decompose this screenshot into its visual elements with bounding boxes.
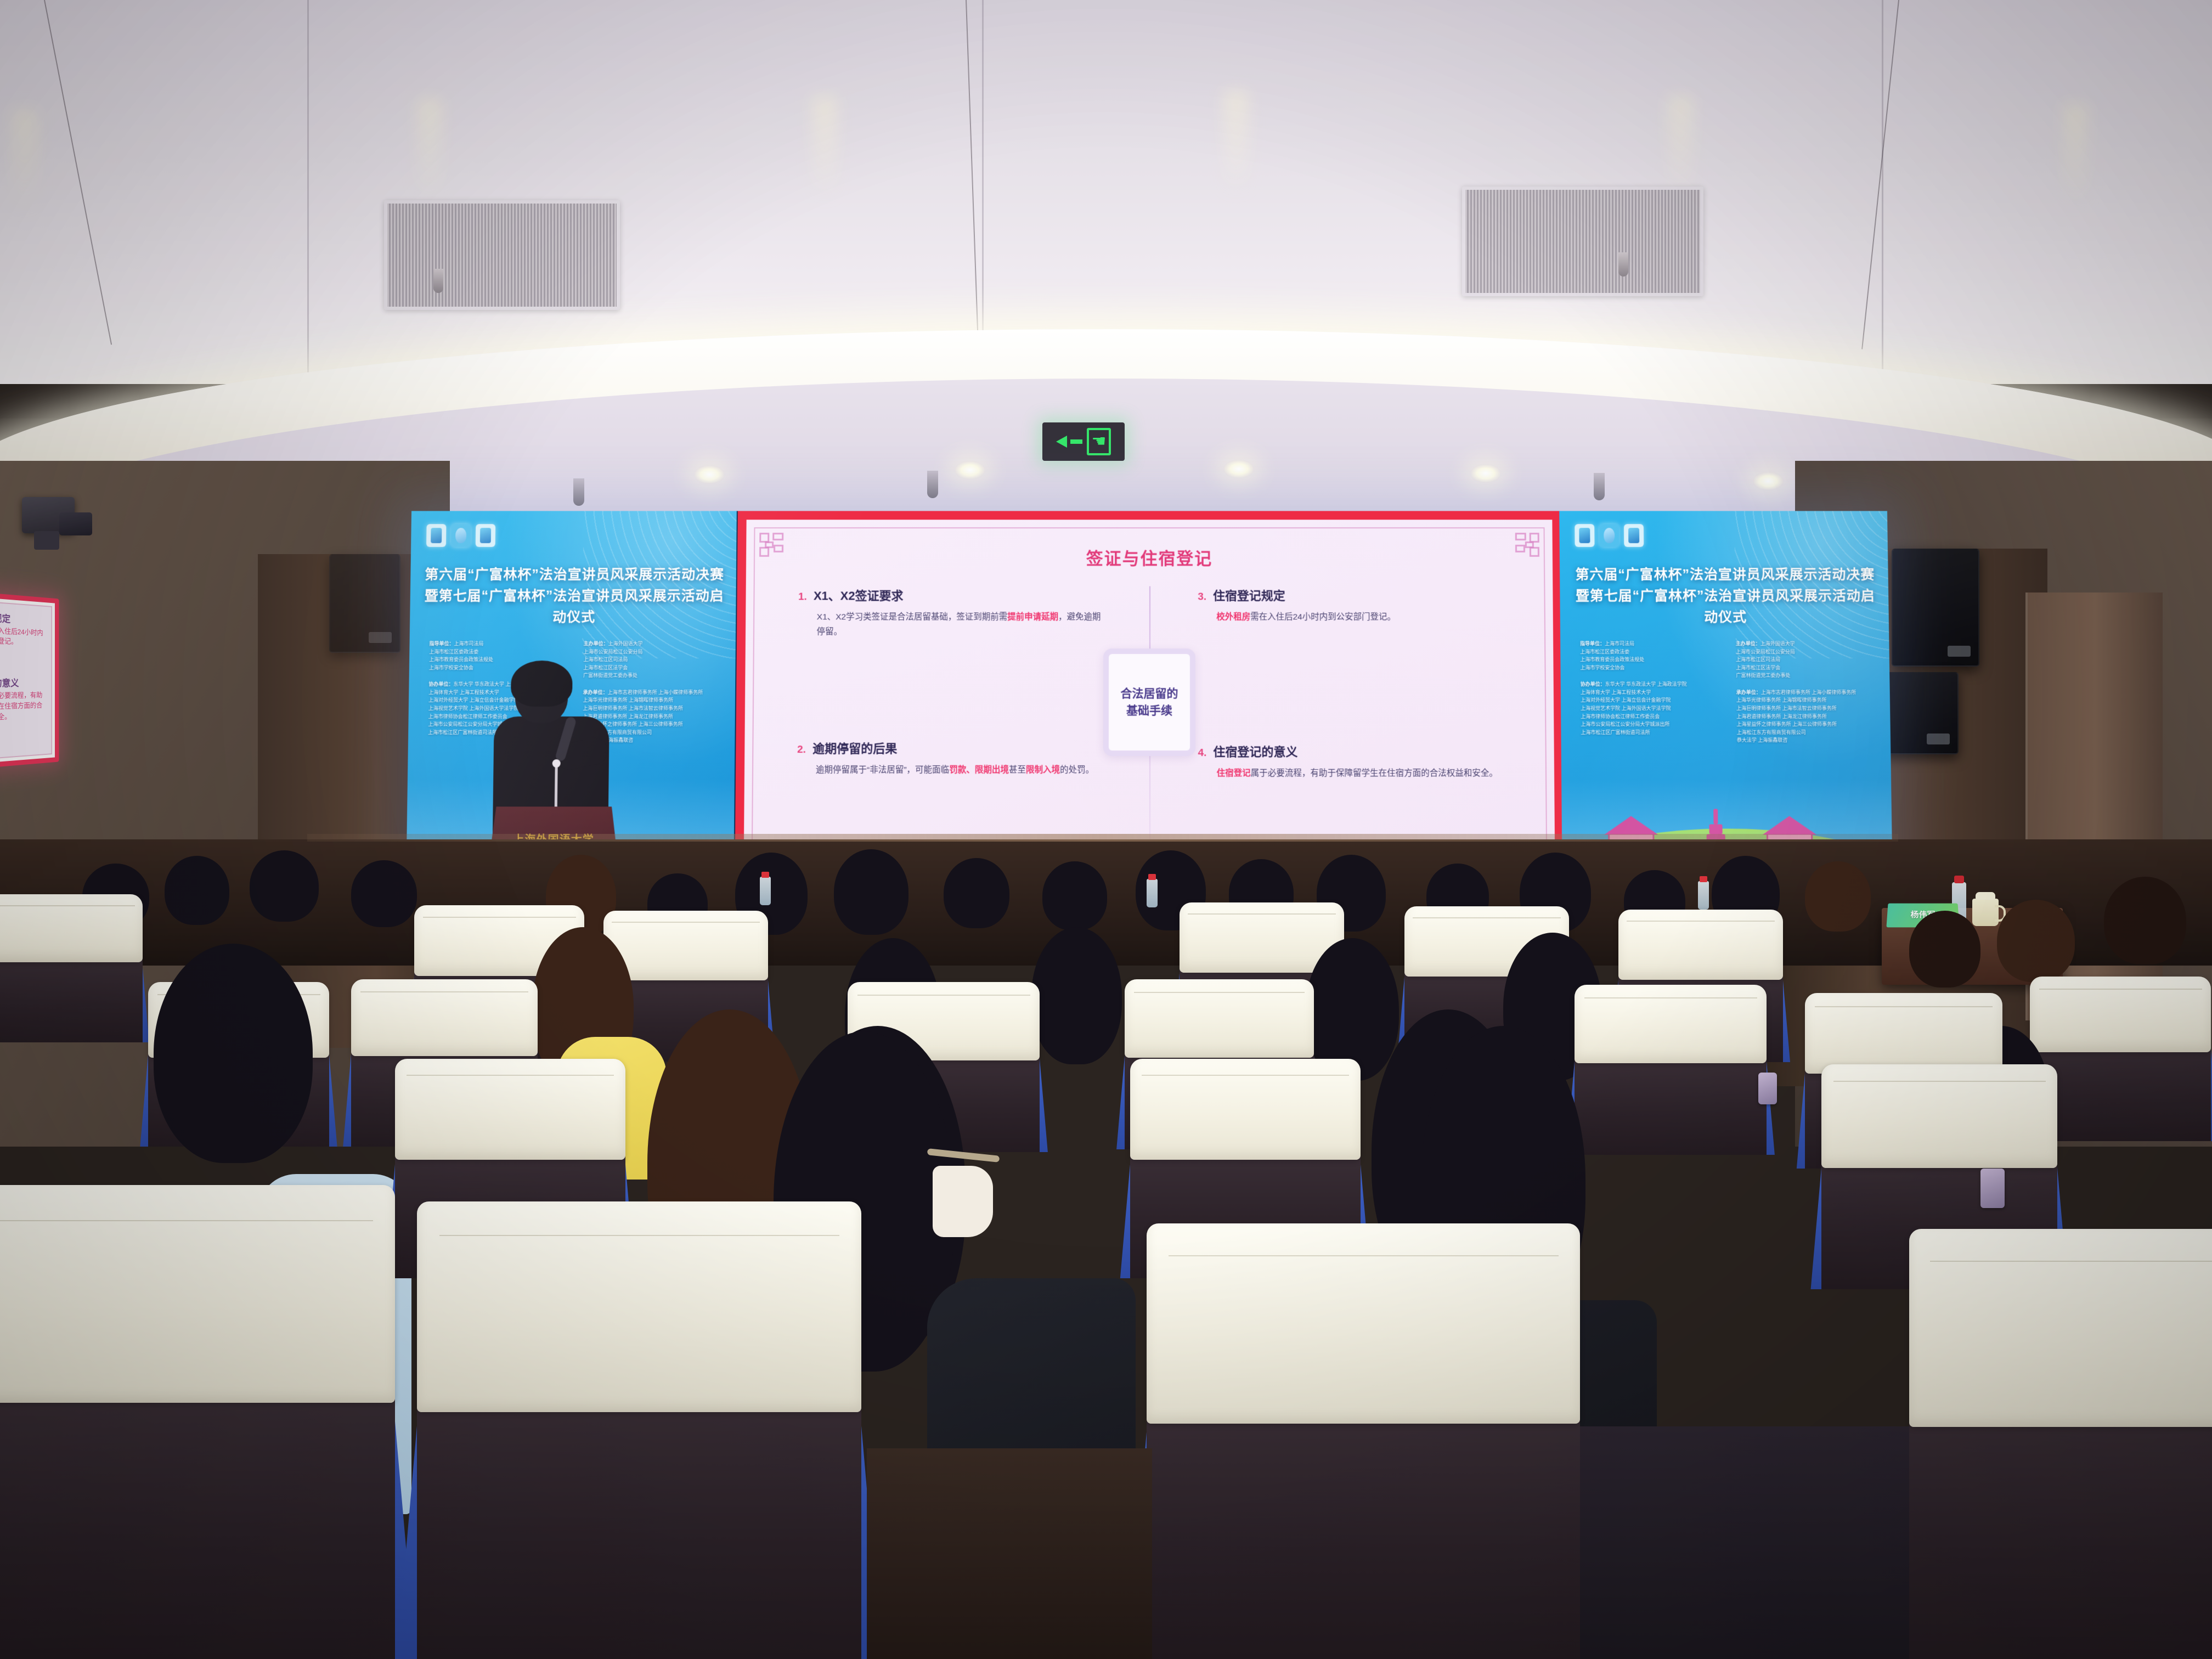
org-label: 指导单位： (429, 641, 454, 646)
audience-head (1997, 900, 2075, 982)
body-part-highlight: 限制入境 (1026, 765, 1060, 775)
org-item: 上海市司法局 (454, 641, 483, 646)
slide-item-heading: 逾期停留的后果 (812, 739, 897, 757)
org-item: 上海松江东方有限商贸有限公司 (1737, 729, 1877, 737)
banner-logo-group (426, 524, 495, 547)
seat-headrest-cover (395, 1059, 625, 1160)
emergency-exit-sign: ☚ (1042, 422, 1125, 461)
body-part-highlight: 提前申请延期 (1007, 612, 1058, 622)
slide-item-heading: X1、X2签证要求 (814, 586, 904, 604)
audience-head (1909, 911, 1980, 988)
slide-item-number: 4. (1198, 747, 1207, 759)
slide-item-body: X1、X2学习类签证是合法居留基础，签证到期前需提前申请延期，避免逾期停留。 (798, 610, 1105, 639)
org-item: 上海巨明律师事务所 上海市法智云律师事务所 (1736, 704, 1877, 713)
org-item: 东华大学 华东政法大学 上海政法学院 (1605, 681, 1687, 687)
org-block: 主办单位：上海外国语大学 上海市公安局松江公安分局 上海市松江区司法局 上海市松… (1736, 640, 1877, 680)
body-part-highlight: 校外租房 (1216, 612, 1250, 622)
org-block: 承办单位：上海市志君律师事务所 上海小蝶律师事务所 上海华光律师事务所 上海锦晖… (1736, 689, 1877, 744)
slide-center-card: 合法居留的 基础手续 (1103, 648, 1195, 756)
aisle-floor (867, 1448, 1152, 1659)
org-label: 指导单位： (1580, 641, 1605, 646)
body-part: 逾期停留属于“非法居留”，可能面临 (816, 765, 949, 775)
audience-head (1031, 927, 1122, 1064)
org-column-1: 指导单位：上海市司法局 上海市松江区委政法委 上海市教育委员会政策法规处 上海市… (1580, 640, 1722, 753)
slide-item-body: 住宿登记属于必要流程，有助于保障留学生在住宿方面的合法权益和安全。 (1198, 766, 1506, 781)
logo-torch-icon (1575, 524, 1594, 547)
banner-orgs-right: 指导单位：上海市司法局 上海市松江区委政法委 上海市教育委员会政策法规处 上海市… (1580, 640, 1877, 753)
ceiling-seam (307, 0, 309, 384)
org-block: 指导单位：上海市司法局 上海市松江区委政法委 上海市教育委员会政策法规处 上海市… (1580, 640, 1720, 672)
body-part: X1、X2学习类签证是合法居留基础，签证到期前需 (817, 612, 1007, 622)
slide-title: 签证与住宿登记 (746, 545, 1553, 569)
slide-item-head: 1. X1、X2签证要求 (798, 586, 1105, 604)
banner-title-line1: 第六届“广富林杯”法治宣讲员风采展示活动决赛 (421, 565, 727, 586)
org-item: 上海市教育委员会政策法规处 (1580, 656, 1720, 664)
light-streak (12, 110, 37, 214)
ceiling-seam (1882, 0, 1883, 384)
slide-item-2: 2. 逾期停留的后果 逾期停留属于“非法居留”，可能面临罚款、限期出境甚至限制入… (797, 739, 1105, 778)
org-item: 恭大法学 上海振鑫联咨 (1737, 736, 1877, 744)
slide-item-heading: 住宿登记的意义 (1213, 742, 1297, 760)
soffit-downlight (1223, 460, 1254, 478)
banner-title-line2: 暨第七届“广富林杯”法治宣讲员风采展示活动启动仪式 (1571, 585, 1880, 628)
hvac-vent (384, 200, 620, 310)
org-item: 上海对外经贸大学 上海立信会计金融学院 (1581, 696, 1721, 704)
org-item: 上海华光律师事务所 上海锦晖律师事务所 (1736, 696, 1877, 704)
video-camera (12, 487, 94, 553)
org-item: 上海星益怀之律师事务所 上海三公律师事务所 (1736, 720, 1877, 729)
org-item: 上海市松江区委政法委 (1580, 648, 1720, 656)
seat-headrest-cover (1130, 1059, 1361, 1160)
seat-base (1147, 1389, 1580, 1659)
soffit-downlight (1753, 472, 1784, 490)
slide-item-body: 逾期停留属于“非法居留”，可能面临罚款、限期出境甚至限制入境的处罚。 (797, 763, 1105, 778)
seat-headrest-cover (1618, 910, 1783, 980)
light-streak (812, 96, 837, 200)
banner-title-right: 第六届“广富林杯”法治宣讲员风采展示活动决赛 暨第七届“广富林杯”法治宣讲员风采… (1571, 565, 1880, 628)
slide-item-head: 2. 逾期停留的后果 (797, 739, 1105, 757)
theater-seat-front[interactable] (1147, 1223, 1580, 1659)
side-preview-monitor: 记规定 需在入住后24小时内 部门登记。 记的意义 属于必要流程，有助 学生在住… (0, 591, 59, 769)
slide-item-number: 3. (1198, 591, 1206, 603)
org-item: 上海君道律师事务所 上海龙江律师事务所 (1736, 713, 1877, 721)
seat-base (1909, 1392, 2212, 1659)
center-card-line2: 基础手续 (1120, 702, 1178, 719)
running-person-exit-icon: ☚ (1087, 428, 1111, 455)
audience-head (2104, 877, 2186, 964)
side-monitor-heading-1: 记规定 (0, 611, 47, 628)
left-arrow-icon (1056, 436, 1067, 448)
slide-item-head: 4. 住宿登记的意义 (1198, 742, 1506, 760)
org-item: 上海市志君律师事务所 上海小蝶律师事务所 (608, 690, 703, 695)
soffit-downlight (694, 465, 725, 484)
org-item: 上海市公安局松江公安分局 (583, 648, 722, 656)
side-monitor-content: 记规定 需在入住后24小时内 部门登记。 记的意义 属于必要流程，有助 学生在住… (0, 601, 52, 760)
slide-item-3: 3. 住宿登记规定 校外租房需在入住后24小时内到公安部门登记。 (1198, 586, 1504, 625)
org-item: 上海市公安局松江公安分局大学城派出所 (1581, 720, 1721, 729)
org-column-2: 主办单位：上海外国语大学 上海市公安局松江公安分局 上海市松江区司法局 上海市松… (1736, 640, 1878, 753)
org-block: 协办单位：东华大学 华东政法大学 上海政法学院 上海体育大学 上海工程技术大学 … (1581, 680, 1722, 736)
org-label: 协办单位： (1581, 681, 1605, 687)
body-part-highlight: 住宿登记 (1217, 769, 1251, 778)
seat-headrest-cover (417, 1201, 861, 1412)
side-monitor-body-2b: 学生在住宿方面的合 (0, 701, 47, 713)
org-item: 上海视觉艺术学院 上海外国语大学法学院 (1581, 704, 1721, 713)
light-streak (1668, 96, 1693, 200)
water-bottle (760, 877, 771, 905)
soffit-downlight (1470, 464, 1501, 483)
banner-title-line2: 暨第七届“广富林杯”法治宣讲员风采展示活动启动仪式 (421, 585, 727, 628)
org-label: 协办单位： (428, 681, 453, 687)
org-item: 广富林街道党工委办事处 (1736, 672, 1876, 680)
banner-title-line1: 第六届“广富林杯”法治宣讲员风采展示活动决赛 (1571, 565, 1880, 586)
audience-head (154, 944, 313, 1163)
slide-item-heading: 住宿登记规定 (1213, 586, 1285, 604)
body-part: 的处罚。 (1060, 765, 1094, 775)
water-bottle (1698, 881, 1709, 910)
body-part-highlight: 罚款、限期出境 (949, 765, 1009, 775)
audience-head (250, 850, 319, 922)
logo-torch-icon (426, 524, 446, 547)
seat-base (0, 951, 143, 1042)
audience-head (944, 858, 1009, 928)
org-item: 上海外国语大学 (608, 641, 643, 646)
light-streak (2063, 104, 2088, 208)
slide-item-number: 1. (798, 591, 807, 603)
theater-seat-front[interactable] (1909, 1229, 2212, 1659)
seat-headrest-cover (1805, 993, 2002, 1074)
sprinkler-head (433, 269, 443, 293)
seat-headrest-cover (2030, 977, 2211, 1052)
camera-mount (34, 531, 59, 550)
seat-base (1575, 1049, 1767, 1155)
logo-mascot-icon (476, 524, 495, 547)
seat-headrest-cover (1125, 979, 1314, 1058)
banner-title-left: 第六届“广富林杯”法治宣讲员风采展示活动决赛 暨第七届“广富林杯”法治宣讲员风采… (421, 565, 727, 628)
audience-head (165, 856, 229, 925)
org-label: 承办单位： (1736, 690, 1761, 695)
org-item: 上海市司法局 (1605, 641, 1634, 646)
slide-item-number: 2. (797, 744, 806, 756)
smartphone[interactable] (1758, 1073, 1777, 1104)
org-item: 上海市松江区法学会 (1736, 664, 1876, 672)
seat-headrest-cover (1147, 1223, 1580, 1424)
presenter-hair (511, 661, 573, 707)
slide-item-head: 3. 住宿登记规定 (1198, 586, 1504, 604)
theater-seat-front[interactable] (0, 1185, 395, 1659)
audience-head (1805, 861, 1871, 932)
podium-microphone-icon (555, 765, 558, 812)
loudspeaker-left (329, 554, 400, 653)
org-item: 上海市志君律师事务所 上海小蝶律师事务所 (1761, 690, 1857, 695)
audience-head (351, 860, 417, 927)
org-item: 上海市松江区广富林街道司法所 (1581, 729, 1721, 737)
loudspeaker-upper-right (1892, 549, 1979, 667)
aisle-floor (1580, 1426, 1909, 1659)
org-item: 上海市松江区司法局 (1736, 656, 1876, 664)
light-streak (417, 99, 442, 203)
body-part: 属于必要流程，有助于保障留学生在住宿方面的合法权益和安全。 (1251, 769, 1498, 778)
org-label: 主办单位： (1736, 641, 1760, 646)
logo-shanghai-icon (1599, 524, 1619, 547)
logo-mascot-icon (1624, 524, 1644, 547)
seat-headrest-cover (1575, 985, 1767, 1063)
seat-base (417, 1375, 861, 1659)
seat-base (0, 1365, 395, 1659)
theater-seat[interactable] (1575, 985, 1767, 1155)
banner-logo-group (1575, 524, 1644, 547)
audience-head (1042, 861, 1107, 930)
presentation-slide: 签证与住宿登记 1. X1、X2签证要求 X1、X2学习类签证是合法居留基础，签… (743, 520, 1555, 886)
org-item: 上海外国语大学 (1760, 641, 1795, 646)
auditorium-scene: 记规定 需在入住后24小时内 部门登记。 记的意义 属于必要流程，有助 学生在住… (0, 0, 2212, 1659)
body-part: 需在入住后24小时内到公安部门登记。 (1250, 612, 1396, 622)
sprinkler-head (573, 478, 584, 506)
slide-column-right: 3. 住宿登记规定 校外租房需在入住后24小时内到公安部门登记。 4. 住宿登记… (1198, 586, 1505, 791)
theater-seat-front[interactable] (417, 1201, 861, 1659)
logo-shanghai-icon (451, 524, 471, 547)
seat-headrest-cover (1909, 1229, 2212, 1427)
org-item: 上海市松江区司法局 (583, 656, 722, 664)
seat-headrest-cover (0, 1185, 395, 1403)
ceiling (0, 0, 2212, 384)
slide-item-1: 1. X1、X2签证要求 X1、X2学习类签证是合法居留基础，签证到期前需提前申… (798, 586, 1105, 640)
slide-item-body: 校外租房需在入住后24小时内到公安部门登记。 (1198, 610, 1504, 625)
ceiling-seam (982, 0, 984, 384)
org-item: 上海市学校安全协会 (1580, 664, 1720, 672)
hvac-vent (1462, 187, 1703, 296)
sprinkler-head (1618, 252, 1628, 276)
body-part: 甚至 (1009, 765, 1026, 775)
seat-headrest-cover (0, 894, 143, 962)
water-bottle (1147, 879, 1158, 907)
sprinkler-head (1594, 473, 1605, 500)
camera-lens-icon (59, 512, 92, 535)
org-label: 主办单位： (584, 641, 608, 646)
side-monitor-body-2c: 和安全。 (0, 710, 47, 723)
org-item: 上海市公安局松江公安分局 (1736, 648, 1876, 656)
face-mask (933, 1166, 993, 1237)
side-monitor-body-2: 属于必要流程，有助 (0, 690, 47, 702)
soffit-downlight (955, 461, 985, 479)
seat-headrest-cover (1821, 1064, 2057, 1168)
sprinkler-head (927, 471, 938, 498)
seat-headrest-cover (351, 979, 538, 1056)
arrow-tail (1070, 439, 1082, 444)
smartphone[interactable] (1980, 1169, 2005, 1208)
org-item: 上海市律师协会松江律师工作委员会 (1581, 713, 1721, 721)
audience-seating (0, 845, 2212, 1659)
org-item: 上海市松江区委政法委 (429, 648, 568, 656)
seat-headrest-cover (603, 911, 768, 980)
light-streak (1223, 91, 1249, 195)
side-monitor-heading-2: 记的意义 (0, 677, 47, 691)
center-card-line1: 合法居留的 (1121, 685, 1178, 702)
org-item: 上海体育大学 上海工程技术大学 (1581, 689, 1721, 697)
theater-seat[interactable] (0, 894, 143, 1042)
audience-head (834, 849, 909, 935)
slide-column-left: 1. X1、X2签证要求 X1、X2学习类签证是合法居留基础，签证到期前需提前申… (797, 586, 1105, 788)
stage-edge-highlight (307, 834, 1898, 842)
slide-item-4: 4. 住宿登记的意义 住宿登记属于必要流程，有助于保障留学生在住宿方面的合法权益… (1198, 742, 1506, 781)
